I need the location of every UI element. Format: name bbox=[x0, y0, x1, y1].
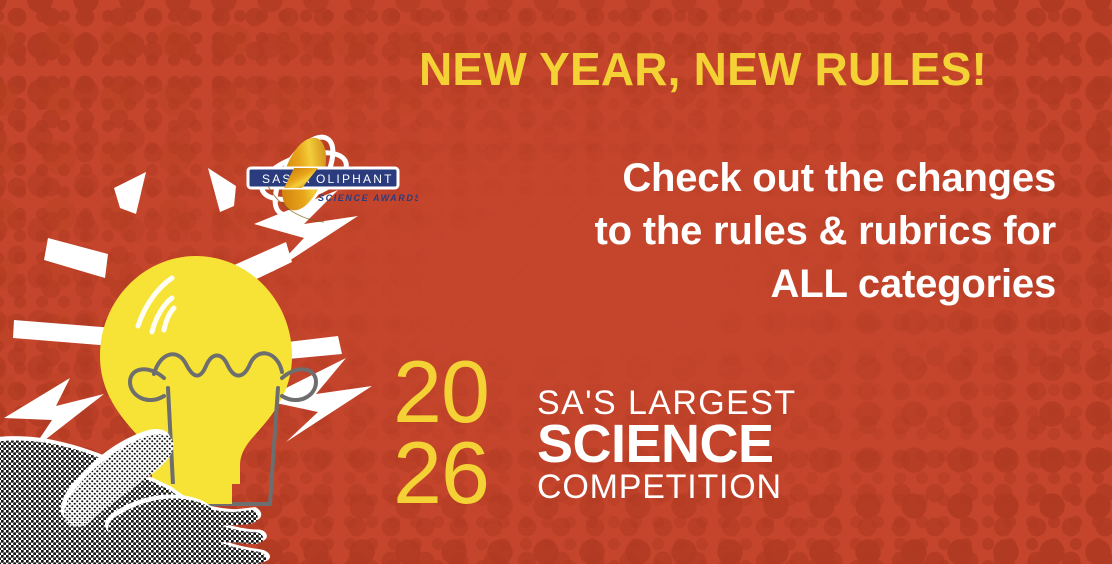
body-copy-line-1: Check out the changes bbox=[496, 152, 1056, 205]
logo-name-right: OLIPHANT bbox=[316, 172, 394, 186]
body-copy-line-3: ALL categories bbox=[496, 258, 1056, 311]
sasta-oliphant-science-awards-logo: SASTA OLIPHANT SCIENCE AWARDS bbox=[232, 124, 418, 228]
body-copy-line-2: to the rules & rubrics for bbox=[496, 205, 1056, 258]
tagline-line-bottom: COMPETITION bbox=[537, 470, 796, 505]
year-bottom: 26 bbox=[393, 433, 489, 514]
promo-banner: SASTA OLIPHANT SCIENCE AWARDS NEW YEAR, … bbox=[0, 0, 1112, 564]
tagline-lockup: SA'S LARGEST SCIENCE COMPETITION bbox=[537, 386, 796, 504]
logo-tagline: SCIENCE AWARDS bbox=[318, 193, 418, 203]
page-title: NEW YEAR, NEW RULES! bbox=[0, 46, 1076, 92]
tagline-line-mid: SCIENCE bbox=[537, 419, 796, 471]
body-copy: Check out the changes to the rules & rub… bbox=[496, 152, 1056, 310]
year-top: 20 bbox=[393, 352, 489, 433]
year-2026: 20 26 bbox=[393, 352, 489, 514]
